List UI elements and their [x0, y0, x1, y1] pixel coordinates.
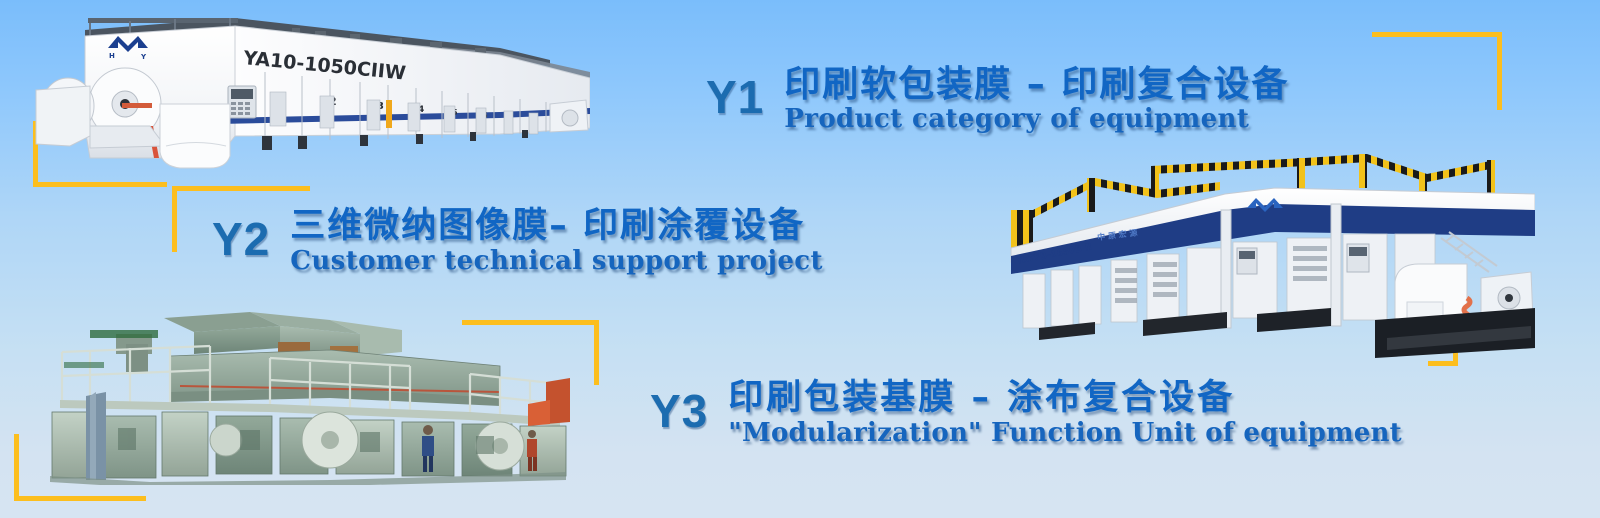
bracket-bottom-left-horizontal	[14, 496, 146, 501]
row-y1: Y1 印刷软包装膜 – 印刷复合设备 Product category of e…	[706, 66, 1289, 133]
row-y3-texts: 印刷包装基膜 – 涂布复合设备 "Modularization" Functio…	[728, 380, 1402, 447]
row-y1-title-cn: 印刷软包装膜 – 印刷复合设备	[784, 66, 1289, 105]
bracket-top-right-horizontal	[1372, 32, 1502, 37]
machine-coating-laminator: YATFB-1650B II 中 原 宏 源	[975, 152, 1535, 367]
row-y2: Y2 三维微纳图像膜– 印刷涂覆设备 Customer technical su…	[212, 208, 823, 275]
machine-coating-line	[30, 300, 575, 485]
svg-text:H: H	[109, 52, 115, 60]
row-y2-texts: 三维微纳图像膜– 印刷涂覆设备 Customer technical suppo…	[290, 208, 823, 275]
row-y2-title-cn: 三维微纳图像膜– 印刷涂覆设备	[290, 208, 823, 246]
row-y3-code: Y3	[650, 388, 708, 434]
bracket-mid-horizontal	[172, 186, 310, 191]
machine-gravure-press: H Y YA10-1050CIIW 1 2 3 4 5	[30, 8, 590, 183]
row-y3-subtitle-en: "Modularization" Function Unit of equipm…	[728, 420, 1402, 447]
bracket-bottom-left-vertical	[14, 434, 19, 500]
row-y1-texts: 印刷软包装膜 – 印刷复合设备 Product category of equi…	[784, 66, 1289, 133]
svg-text:Y: Y	[140, 53, 147, 61]
bracket-mid-vertical	[172, 186, 177, 252]
row-y1-code: Y1	[706, 74, 764, 120]
banner-stage: H Y YA10-1050CIIW 1 2 3 4 5	[0, 0, 1600, 518]
row-y3-title-cn: 印刷包装基膜 – 涂布复合设备	[728, 380, 1402, 418]
bracket-lower-mid-vertical	[594, 320, 599, 385]
bracket-top-right-vertical	[1497, 32, 1502, 110]
row-y3: Y3 印刷包装基膜 – 涂布复合设备 "Modularization" Func…	[650, 380, 1402, 447]
row-y2-code: Y2	[212, 216, 270, 262]
row-y1-subtitle-en: Product category of equipment	[784, 106, 1289, 133]
row-y2-subtitle-en: Customer technical support project	[290, 248, 823, 275]
